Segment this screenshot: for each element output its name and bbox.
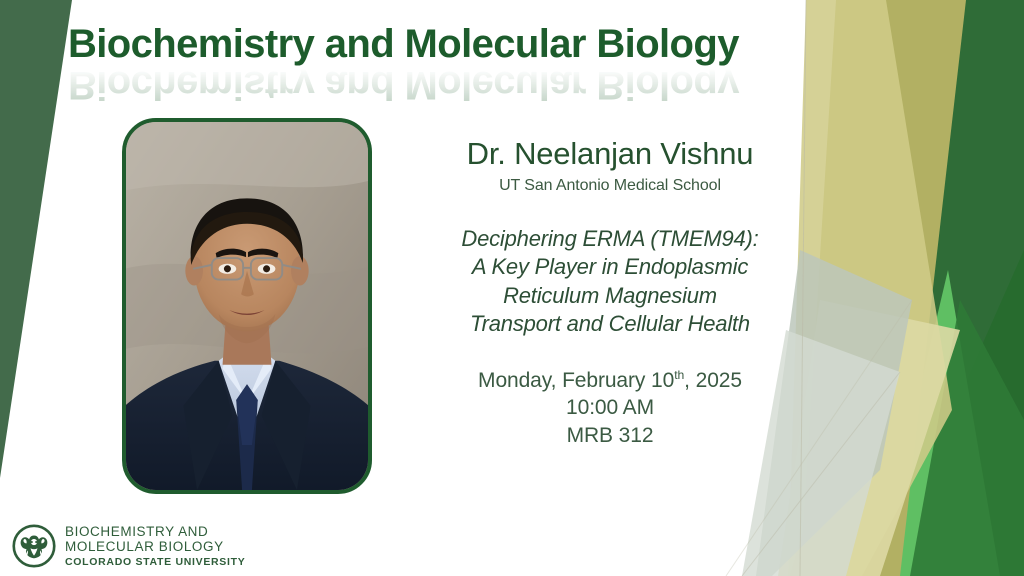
event-location: MRB 312 (400, 422, 820, 449)
seminar-announcement-slide: Biochemistry and Molecular Biology Bioch… (0, 0, 1024, 576)
logo-line-1: BIOCHEMISTRY AND (65, 525, 245, 539)
department-title: Biochemistry and Molecular Biology Bioch… (68, 24, 808, 124)
talk-title-line-4: Transport and Cellular Health (400, 310, 820, 339)
event-date-suffix: , 2025 (684, 369, 742, 392)
logo-line-2: MOLECULAR BIOLOGY (65, 540, 245, 554)
department-logo: BIOCHEMISTRY AND MOLECULAR BIOLOGY COLOR… (12, 524, 245, 568)
logo-text: BIOCHEMISTRY AND MOLECULAR BIOLOGY COLOR… (65, 525, 245, 568)
event-date-ordinal: th (674, 368, 684, 382)
csu-ram-logo-icon (12, 524, 56, 568)
speaker-portrait (126, 122, 368, 490)
event-time: 10:00 AM (400, 394, 820, 421)
left-green-wedge (0, 0, 72, 478)
department-title-reflection: Biochemistry and Molecular Biology (68, 65, 808, 105)
event-date: Monday, February 10th, 2025 (400, 367, 820, 394)
speaker-photo-frame (122, 118, 372, 494)
seminar-details: Dr. Neelanjan Vishnu UT San Antonio Medi… (400, 136, 820, 449)
event-date-prefix: Monday, February 10 (478, 369, 674, 392)
speaker-affiliation: UT San Antonio Medical School (400, 177, 820, 195)
talk-title-line-3: Reticulum Magnesium (400, 282, 820, 311)
talk-title-line-1: Deciphering ERMA (TMEM94): (400, 225, 820, 254)
logo-line-3: COLORADO STATE UNIVERSITY (65, 557, 245, 568)
department-title-text: Biochemistry and Molecular Biology (68, 24, 808, 64)
speaker-name: Dr. Neelanjan Vishnu (400, 136, 820, 173)
talk-title: Deciphering ERMA (TMEM94): A Key Player … (400, 225, 820, 339)
event-info: Monday, February 10th, 2025 10:00 AM MRB… (400, 367, 820, 449)
talk-title-line-2: A Key Player in Endoplasmic (400, 253, 820, 282)
